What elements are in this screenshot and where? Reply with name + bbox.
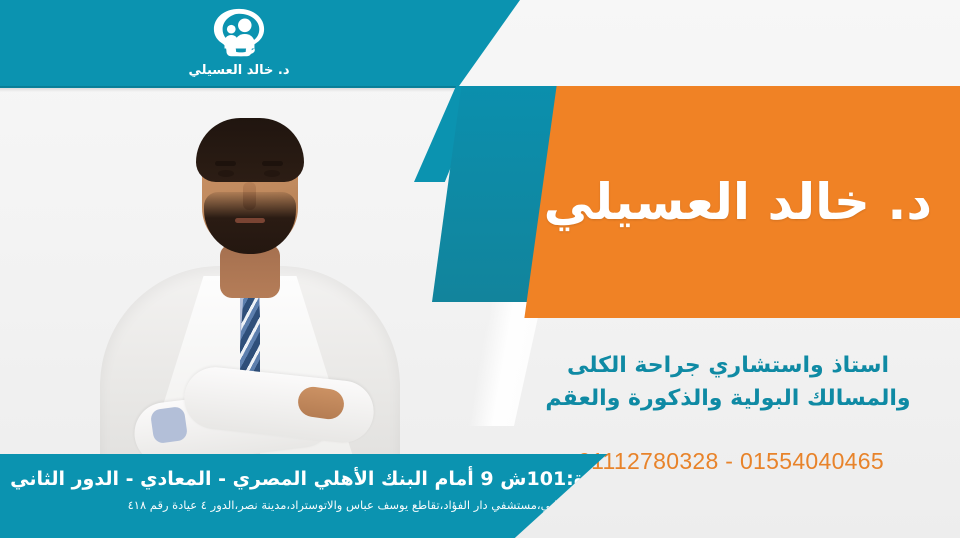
portrait-eyebrow-left (215, 161, 236, 166)
logo-caption: د. خالد العسيلي (189, 63, 290, 78)
portrait-eye-right (264, 170, 280, 177)
doctor-name: د. خالد العسيلي (544, 176, 932, 229)
portrait-hair (196, 118, 304, 182)
doctor-name-block: د. خالد العسيلي (506, 86, 960, 318)
clinic-address-primary: العيادة:101ش 9 أمام البنك الأهلي المصري … (10, 468, 634, 490)
portrait-beard (204, 192, 296, 254)
doctor-portrait-photo (100, 96, 400, 466)
doctor-specialty: استاذ واستشاري جراحة الكلى والمسالك البو… (518, 350, 938, 415)
portrait-eyebrow-right (262, 161, 283, 166)
header-bar-shadow (0, 86, 520, 92)
specialty-line-2: والمسالك البولية والذكورة والعقم (518, 383, 938, 416)
portrait-shirt-cuff (150, 406, 188, 444)
specialty-line-1: استاذ واستشاري جراحة الكلى (518, 350, 938, 383)
doctor-advertisement-banner: د. خالد العسيلي د. خالد العسيلي استاذ وا… (0, 0, 960, 538)
portrait-eye-left (218, 170, 234, 177)
doctor-family-care-logo-icon (208, 6, 270, 62)
portrait-mouth (235, 218, 265, 223)
brand-logo: د. خالد العسيلي (184, 6, 294, 86)
